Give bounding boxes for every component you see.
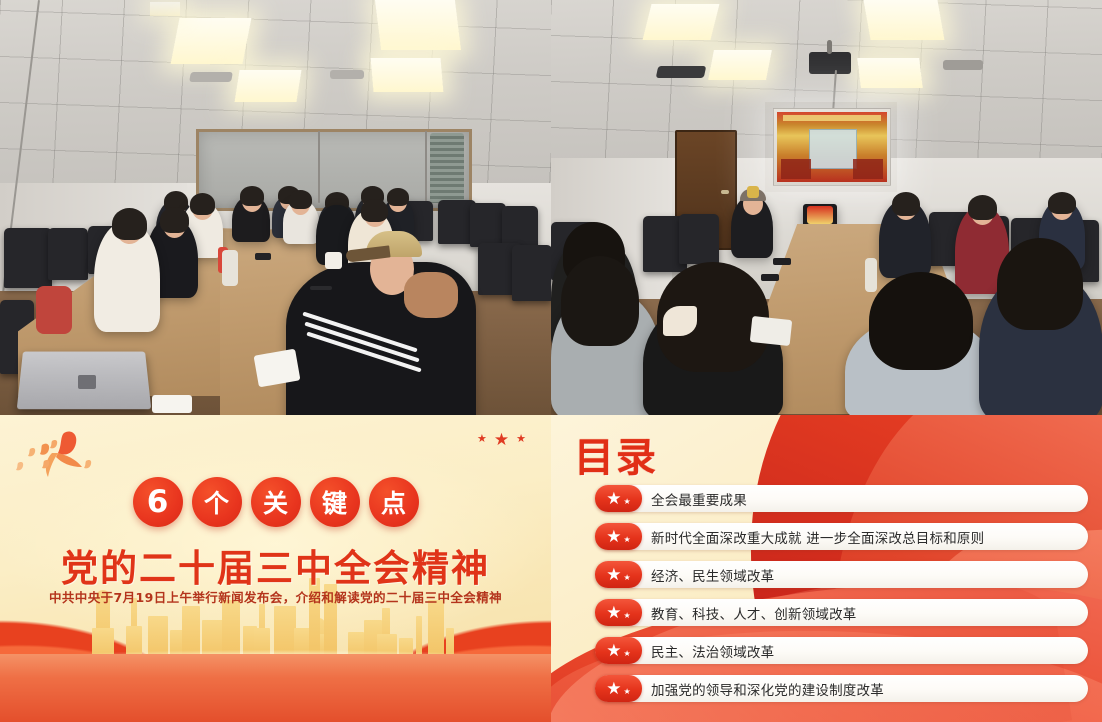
screen-document <box>809 129 857 169</box>
chair <box>470 203 506 247</box>
contents-item[interactable]: ★ ★ 加强党的领导和深化党的建设制度改革 <box>595 675 1088 702</box>
key-point-badge: 个 <box>192 477 242 527</box>
person-hair <box>1048 192 1076 214</box>
person-hair <box>892 192 920 216</box>
ceiling-light <box>863 0 944 40</box>
slide-title: ★ ★ ★ <box>0 415 551 722</box>
contents-item-label: 加强党的领导和深化党的建设制度改革 <box>651 679 884 699</box>
chair <box>679 214 719 264</box>
star-small-icon: ★ <box>624 536 631 544</box>
star-icon: ★ <box>516 434 526 445</box>
key-point-badge: 点 <box>369 477 419 527</box>
star-badge: ★ ★ <box>595 561 642 588</box>
ceiling-vent <box>656 66 707 78</box>
star-badge: ★ ★ <box>595 675 642 702</box>
contents-list: ★ ★ 全会最重要成果 ★ ★ 新时代全面深改重大成就 进一步全面深改总目标和原… <box>595 485 1088 702</box>
contents-item[interactable]: ★ ★ 新时代全面深改重大成就 进一步全面深改总目标和原则 <box>595 523 1088 550</box>
key-points-row: 6 个 关 键 点 <box>0 477 551 527</box>
chair <box>48 228 88 280</box>
ceiling-vent <box>189 72 233 82</box>
star-small-icon: ★ <box>624 574 631 582</box>
phone <box>773 258 791 265</box>
title-slide: ★ ★ ★ <box>0 415 551 722</box>
star-icon: ★ <box>606 490 621 507</box>
contents-item[interactable]: ★ ★ 教育、科技、人才、创新领域改革 <box>595 599 1088 626</box>
star-icon: ★ <box>477 434 487 445</box>
slide-heading: 党的二十届三中全会精神 <box>0 538 551 592</box>
ceiling-light <box>171 18 252 64</box>
person-hair <box>160 207 189 233</box>
ceiling-light <box>708 50 772 80</box>
screen-delegates-left <box>781 159 811 179</box>
contents-item[interactable]: ★ ★ 经济、民生领域改革 <box>595 561 1088 588</box>
screen-delegates-right <box>853 159 883 179</box>
star-icon: ★ <box>606 566 621 583</box>
ceiling-light <box>375 0 461 50</box>
contents-slide: 目录 ★ ★ 全会最重要成果 ★ ★ 新时代全面深改重大成 <box>551 415 1102 722</box>
slide-contents: 目录 ★ ★ 全会最重要成果 ★ ★ 新时代全面深改重大成 <box>551 415 1102 722</box>
chair <box>512 245 551 301</box>
paper-document <box>750 316 792 346</box>
meeting-room-photo <box>0 0 551 415</box>
contents-item-label: 全会最重要成果 <box>651 489 747 509</box>
hair-clip <box>663 306 697 336</box>
person-hair <box>997 238 1083 330</box>
star-small-icon: ★ <box>624 688 631 696</box>
chair <box>4 228 52 288</box>
key-point-badge: 键 <box>310 477 360 527</box>
person-hair <box>869 272 973 370</box>
ceiling-vent <box>330 70 364 79</box>
star-badge: ★ ★ <box>595 637 642 664</box>
contents-item-label: 经济、民生领域改革 <box>651 565 774 585</box>
star-icon: ★ <box>606 642 621 659</box>
person-hair <box>387 188 409 206</box>
photo-meeting-room-left <box>0 0 551 415</box>
contents-item-label: 民主、法治领域改革 <box>651 641 774 661</box>
star-small-icon: ★ <box>624 650 631 658</box>
key-point-badge: 关 <box>251 477 301 527</box>
star-badge: ★ ★ <box>595 523 642 550</box>
cup <box>325 252 342 269</box>
contents-item-label: 教育、科技、人才、创新领域改革 <box>651 603 857 623</box>
ceiling-vent <box>943 60 983 70</box>
ceiling-light <box>150 2 180 16</box>
screen-banner <box>783 115 880 121</box>
door-handle <box>721 190 729 194</box>
pen <box>310 286 332 290</box>
contents-title: 目录 <box>574 425 658 483</box>
key-point-badge: 6 <box>133 477 183 527</box>
person-hair <box>561 256 639 346</box>
window-divider <box>425 131 427 203</box>
person-hair <box>361 199 388 222</box>
ceiling-light <box>643 4 720 40</box>
projection-screen <box>773 108 891 186</box>
person-hair <box>968 195 997 220</box>
bottle <box>865 258 877 292</box>
star-icon: ★ <box>494 431 509 448</box>
star-icon: ★ <box>606 604 621 621</box>
projector-room-photo <box>551 0 1102 415</box>
foreground-ground <box>0 654 551 722</box>
laptop-logo <box>78 375 96 389</box>
projector <box>809 52 851 74</box>
star-icon: ★ <box>606 528 621 545</box>
ceiling-light <box>371 58 444 92</box>
star-small-icon: ★ <box>624 612 631 620</box>
ceiling-light <box>857 58 923 88</box>
laptop-screen-content <box>807 206 833 224</box>
contents-item[interactable]: ★ ★ 民主、法治领域改革 <box>595 637 1088 664</box>
exit-sign <box>747 186 759 198</box>
star-badge: ★ ★ <box>595 599 642 626</box>
phone <box>761 274 779 281</box>
projector-mount <box>827 40 832 54</box>
star-badge: ★ ★ <box>595 485 642 512</box>
thermos <box>222 250 238 286</box>
photo-projector-room-right <box>551 0 1102 415</box>
person-hair <box>240 186 264 206</box>
star-small-icon: ★ <box>624 498 631 506</box>
person-hair <box>289 190 312 209</box>
flying-birds-icon <box>14 427 124 481</box>
person-hair <box>112 208 147 240</box>
contents-item-label: 新时代全面深改重大成就 进一步全面深改总目标和原则 <box>651 527 984 547</box>
window-blinds <box>430 133 464 203</box>
backpack <box>36 286 72 334</box>
scarf <box>404 272 458 318</box>
phone <box>255 253 271 260</box>
contents-item[interactable]: ★ ★ 全会最重要成果 <box>595 485 1088 512</box>
image-collage: ★ ★ ★ <box>0 0 1102 722</box>
person-hair <box>190 193 215 215</box>
ceiling-light <box>234 70 301 102</box>
three-stars: ★ ★ ★ <box>477 431 526 448</box>
paper-document <box>152 395 192 413</box>
slide-subtitle: 中共中央于7月19日上午举行新闻发布会，介绍和解读党的二十届三中全会精神 <box>0 587 551 606</box>
star-icon: ★ <box>606 680 621 697</box>
window-divider <box>318 131 320 203</box>
